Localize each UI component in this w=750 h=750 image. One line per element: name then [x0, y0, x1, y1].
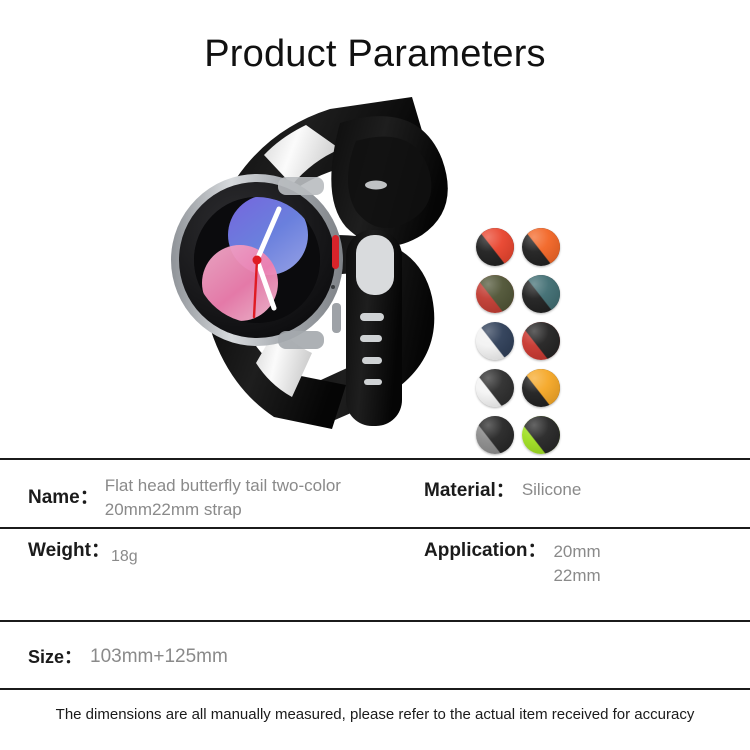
table-divider-bottom [0, 688, 750, 690]
swatch-sheen [522, 275, 560, 313]
spec-value-material: Silicone [515, 478, 582, 502]
color-swatch-black-amber[interactable] [522, 369, 560, 407]
color-swatch-grid [476, 228, 562, 454]
spec-cell-name: Name： Flat head butterfly tail two-color… [28, 474, 408, 522]
spec-cell-material: Material： Silicone [424, 478, 724, 504]
color-swatch-gray-black[interactable] [476, 416, 514, 454]
spec-value-application-line-2: 22mm [553, 564, 600, 588]
table-divider-size-top [0, 620, 750, 622]
swatch-sheen [476, 322, 514, 360]
color-swatch-white-navy-blue[interactable] [476, 322, 514, 360]
swatch-sheen [522, 369, 560, 407]
spec-value-application-line-1: 20mm [553, 540, 600, 564]
measurement-disclaimer: The dimensions are all manually measured… [0, 705, 750, 725]
spec-value-size: 103mm+125mm [82, 644, 228, 669]
page-title: Product Parameters [0, 32, 750, 76]
butterfly-tail-loop [331, 116, 447, 246]
color-swatch-red-army-green[interactable] [476, 275, 514, 313]
spec-label-weight: Weight： [28, 538, 110, 564]
swatch-sheen [476, 275, 514, 313]
color-swatch-black-orange[interactable] [522, 228, 560, 266]
color-swatch-lime-green-black[interactable] [522, 416, 560, 454]
spec-value-name: Flat head butterfly tail two-color 20mm2… [99, 474, 408, 522]
table-divider-top [0, 458, 750, 460]
spec-label-name: Name： [28, 474, 99, 511]
spec-cell-weight: Weight： 18g [28, 538, 408, 569]
table-divider-middle [0, 527, 750, 529]
color-swatch-black-teal[interactable] [522, 275, 560, 313]
product-photo [160, 85, 460, 435]
product-parameters-page: Product Parameters [0, 0, 750, 750]
color-swatch-white-black[interactable] [476, 369, 514, 407]
swatch-sheen [476, 369, 514, 407]
swatch-sheen [522, 228, 560, 266]
spec-label-application: Application： [424, 538, 546, 564]
swatch-sheen [522, 322, 560, 360]
swatch-sheen [476, 416, 514, 454]
spec-cell-application: Application： 20mm 22mm [424, 538, 724, 588]
spec-value-application: 20mm 22mm [546, 538, 600, 588]
color-swatch-red-black[interactable] [522, 322, 560, 360]
product-image-section [0, 85, 750, 440]
spec-label-material: Material： [424, 478, 515, 504]
spec-value-weight: 18g [110, 538, 138, 569]
swatch-sheen [522, 416, 560, 454]
swatch-sheen [476, 228, 514, 266]
spec-label-size: Size： [28, 644, 82, 670]
color-swatch-black-red[interactable] [476, 228, 514, 266]
spec-cell-size: Size： 103mm+125mm [28, 644, 628, 670]
